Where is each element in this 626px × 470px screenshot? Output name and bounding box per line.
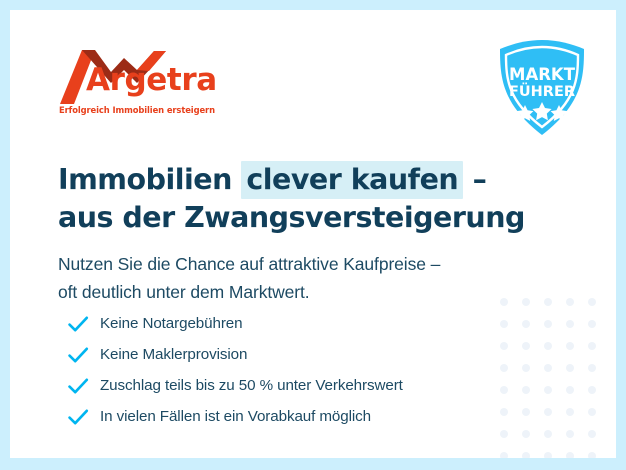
decorative-dot	[566, 298, 574, 306]
decorative-dot	[500, 452, 508, 458]
decorative-dot	[544, 320, 552, 328]
check-icon	[66, 343, 90, 367]
check-icon	[66, 312, 90, 336]
benefit-label: Keine Maklerprovision	[100, 346, 247, 363]
decorative-dot	[588, 364, 596, 372]
subheadline: Nutzen Sie die Chance auf attraktive Kau…	[58, 250, 538, 306]
page-title: Immobilien clever kaufen – aus der Zwang…	[58, 161, 528, 237]
promo-banner: Argetra Erfolgreich Immobilien ersteiger…	[0, 0, 626, 470]
dot-grid-decoration	[494, 298, 616, 458]
logo-tagline: Erfolgreich Immobilien ersteigern	[59, 105, 215, 115]
decorative-dot	[566, 320, 574, 328]
benefit-item: Keine Notargebühren	[66, 308, 506, 339]
subheadline-line1: Nutzen Sie die Chance auf attraktive Kau…	[58, 250, 538, 278]
benefit-item: Keine Maklerprovision	[66, 339, 506, 370]
decorative-dot	[588, 386, 596, 394]
logo-wordmark: Argetra	[86, 65, 217, 96]
decorative-dot	[544, 298, 552, 306]
badge-line2: FÜHRER	[509, 82, 575, 100]
benefit-label: Zuschlag teils bis zu 50 % unter Verkehr…	[100, 377, 403, 394]
decorative-dot	[522, 320, 530, 328]
decorative-dot	[522, 386, 530, 394]
decorative-dot	[588, 298, 596, 306]
benefit-item: Zuschlag teils bis zu 50 % unter Verkehr…	[66, 370, 506, 401]
decorative-dot	[522, 408, 530, 416]
benefit-list: Keine NotargebührenKeine Maklerprovision…	[66, 308, 506, 432]
headline-line1: Immobilien clever kaufen –	[58, 161, 486, 199]
decorative-dot	[566, 452, 574, 458]
decorative-dot	[566, 342, 574, 350]
decorative-dot	[522, 430, 530, 438]
subheadline-line2: oft deutlich unter dem Marktwert.	[58, 278, 538, 306]
headline-highlight: clever kaufen	[241, 161, 463, 199]
benefit-item: In vielen Fällen ist ein Vorabkauf mögli…	[66, 401, 506, 432]
decorative-dot	[588, 320, 596, 328]
decorative-dot	[588, 430, 596, 438]
headline-pre: Immobilien	[58, 163, 241, 196]
decorative-dot	[522, 452, 530, 458]
decorative-dot	[588, 452, 596, 458]
decorative-dot	[544, 386, 552, 394]
check-icon	[66, 374, 90, 398]
banner-canvas: Argetra Erfolgreich Immobilien ersteiger…	[10, 10, 616, 458]
decorative-dot	[544, 342, 552, 350]
decorative-dot	[522, 342, 530, 350]
decorative-dot	[544, 408, 552, 416]
headline-line2: aus der Zwangsversteigerung	[58, 199, 528, 237]
decorative-dot	[522, 364, 530, 372]
badge-line1: MARKT	[509, 65, 576, 84]
argetra-logo[interactable]: Argetra Erfolgreich Immobilien ersteiger…	[58, 48, 218, 124]
decorative-dot	[544, 452, 552, 458]
marktfuehrer-badge: MARKT FÜHRER	[496, 38, 588, 138]
check-icon	[66, 405, 90, 429]
decorative-dot	[544, 430, 552, 438]
decorative-dot	[566, 430, 574, 438]
headline-post: –	[463, 163, 486, 196]
decorative-dot	[588, 408, 596, 416]
decorative-dot	[544, 364, 552, 372]
benefit-label: Keine Notargebühren	[100, 315, 243, 332]
benefit-label: In vielen Fällen ist ein Vorabkauf mögli…	[100, 408, 371, 425]
decorative-dot	[566, 386, 574, 394]
decorative-dot	[566, 408, 574, 416]
decorative-dot	[588, 342, 596, 350]
decorative-dot	[566, 364, 574, 372]
